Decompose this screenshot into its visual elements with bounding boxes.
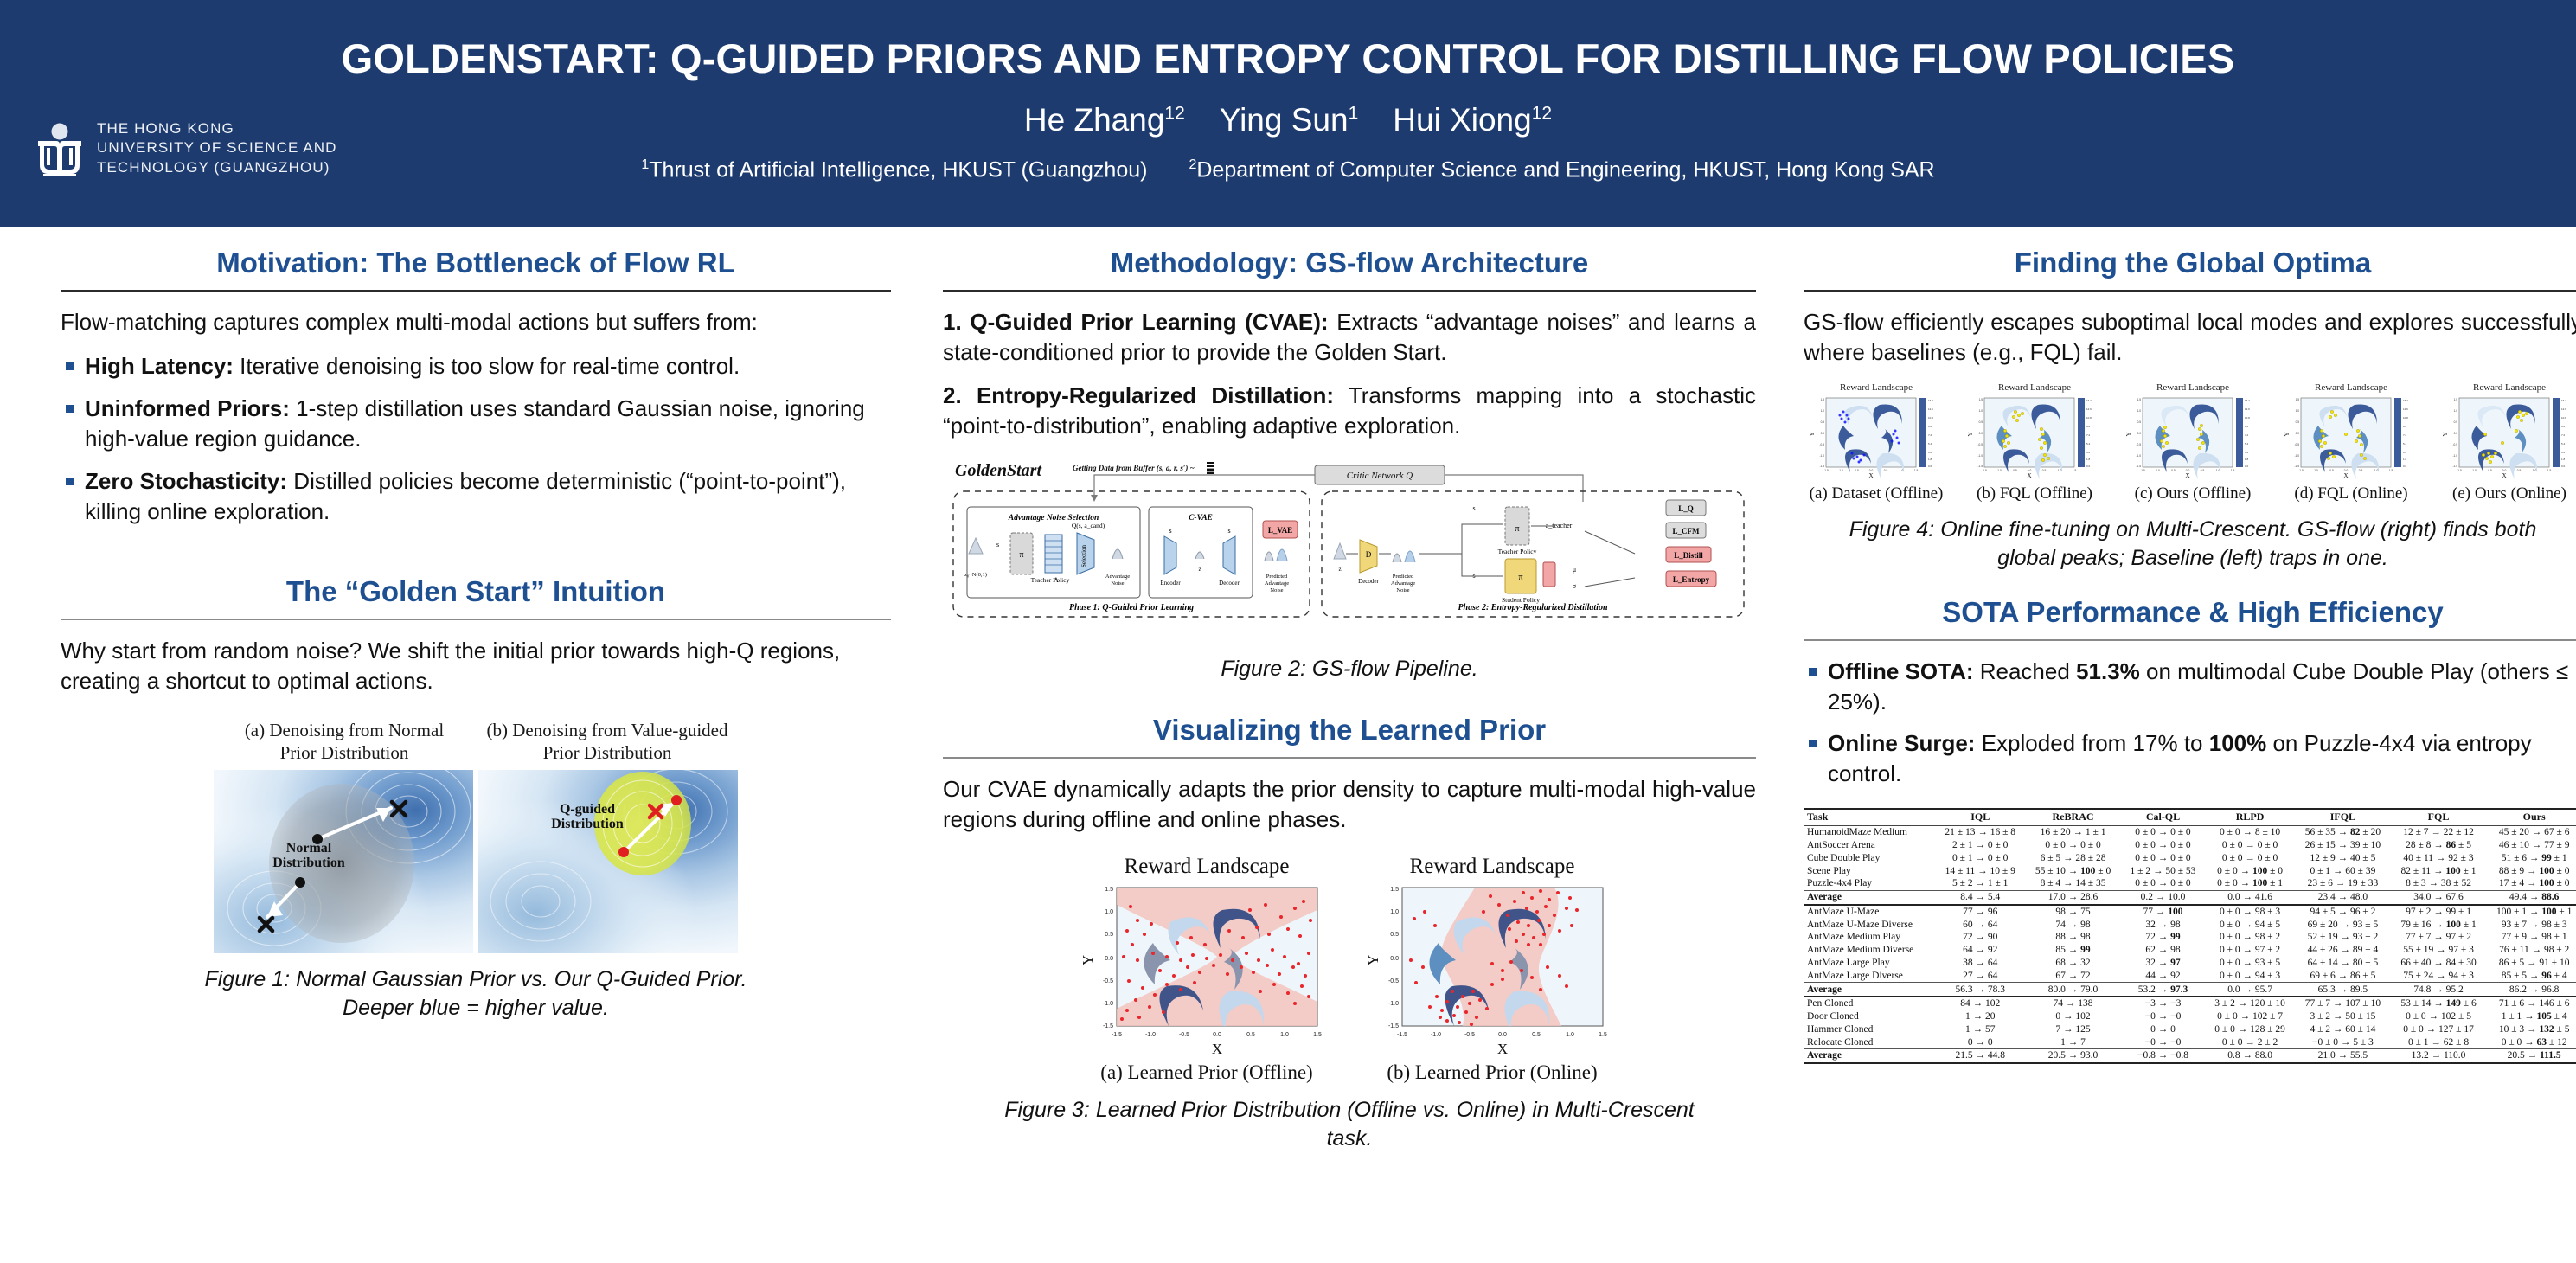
svg-text:0.5: 0.5 xyxy=(2517,469,2522,472)
table-cell: 100 ± 1 → 100 ± 1 xyxy=(2486,905,2576,919)
table-row: Pen Cloned84 → 10274 → 138−3 → −33 ± 2 →… xyxy=(1804,997,2576,1010)
table-cell: 0 ± 0 → 102 ± 5 xyxy=(2391,1010,2487,1023)
global-optima-text: GS-flow efficiently escapes suboptimal l… xyxy=(1804,307,2576,369)
phase-1-title: Phase 1: Q-Guided Prior Learning xyxy=(1069,603,1194,612)
table-cell: 13.2 → 110.0 xyxy=(2391,1049,2487,1063)
table-cell: 0 ± 0 → 0 ± 0 xyxy=(2025,839,2121,852)
section-divider xyxy=(943,290,1756,292)
table-row-average: Average21.5 → 44.820.5 → 93.0−0.8 → −0.8… xyxy=(1804,1049,2576,1063)
table-cell: −0.8 → −0.8 xyxy=(2121,1049,2205,1063)
svg-text:-1.5: -1.5 xyxy=(1823,469,1829,472)
figure-4-subcaption-a: (a) Dataset (Offline) xyxy=(1804,484,1949,503)
table-cell: 76 ± 11 → 98 ± 2 xyxy=(2486,944,2576,957)
svg-text:1.5: 1.5 xyxy=(2454,398,2458,401)
table-cell: 86.2 → 96.8 xyxy=(2486,983,2576,997)
results-table: TaskIQLReBRACCal-QLRLPDIFQLFQLOurs Human… xyxy=(1804,808,2576,1064)
svg-text:-0.5: -0.5 xyxy=(2295,443,2300,446)
svg-text:9.0: 9.0 xyxy=(2245,425,2249,428)
table-row-average: Average8.4 → 5.417.0 → 28.60.2 → 10.00.0… xyxy=(1804,890,2576,904)
table-cell: 32 → 98 xyxy=(2121,918,2205,931)
svg-text:X: X xyxy=(2185,472,2189,479)
method-num-1: 1. xyxy=(943,309,962,335)
svg-text:-0.5: -0.5 xyxy=(1854,469,1859,472)
figure-4-plot-title-b: Reward Landscape xyxy=(1962,382,2107,393)
svg-text:0.0: 0.0 xyxy=(2086,465,2091,468)
figure-4-subcaption-e: (e) Ours (Online) xyxy=(2437,484,2576,503)
svg-text:Predicted: Predicted xyxy=(1266,574,1288,580)
table-cell: 85 → 99 xyxy=(2025,944,2121,957)
table-cell-task: Door Cloned xyxy=(1804,1010,1935,1023)
svg-text:Predicted: Predicted xyxy=(1393,574,1414,580)
svg-text:0.5: 0.5 xyxy=(2454,420,2458,424)
table-cell: 27 → 64 xyxy=(1935,969,2025,982)
affiliation-list: 1Thrust of Artificial Intelligence, HKUS… xyxy=(0,157,2576,183)
table-cell: 1 ± 2 → 50 ± 53 xyxy=(2121,864,2205,877)
table-cell: 55 ± 19 → 97 ± 3 xyxy=(2391,944,2487,957)
figure-4-panel-c: Reward Landscape xyxy=(2120,382,2265,503)
svg-text:z₀~N(0,1): z₀~N(0,1) xyxy=(964,572,987,578)
figure-3: Reward Landscape xyxy=(943,855,1756,1154)
figure-4-plot-title-a: Reward Landscape xyxy=(1804,382,1949,393)
svg-text:1.5: 1.5 xyxy=(1979,398,1983,401)
table-cell: 79 ± 16 → 100 ± 1 xyxy=(2391,918,2487,931)
table-cell-task: Scene Play xyxy=(1804,864,1935,877)
svg-text:1.0: 1.0 xyxy=(1821,409,1825,413)
svg-text:0.0: 0.0 xyxy=(2454,432,2458,435)
svg-text:-0.5: -0.5 xyxy=(1978,443,1983,446)
motivation-intro: Flow-matching captures complex multi-mod… xyxy=(61,307,891,337)
table-cell: 46 ± 10 → 77 ± 9 xyxy=(2486,839,2576,852)
svg-text:5.4: 5.4 xyxy=(1928,442,1932,446)
table-cell: 44 → 92 xyxy=(2121,969,2205,982)
table-cell: 94 ± 5 → 96 ± 2 xyxy=(2295,905,2391,919)
hkust-crest-icon xyxy=(35,120,85,177)
bullet-pre: Reached xyxy=(1974,658,2077,684)
svg-text:7.2: 7.2 xyxy=(2561,433,2566,437)
svg-text:3.6: 3.6 xyxy=(2403,451,2407,454)
table-cell: 6 ± 5 → 28 ± 28 xyxy=(2025,851,2121,864)
svg-text:Distribution: Distribution xyxy=(272,856,345,870)
author-3-affil-sup: 12 xyxy=(1532,104,1552,124)
svg-text:Advantage: Advantage xyxy=(1265,580,1289,587)
table-cell: 40 ± 11 → 92 ± 3 xyxy=(2391,851,2487,864)
figure-4-panel-b: Reward Landscape xyxy=(1962,382,2107,503)
svg-text:1.0: 1.0 xyxy=(1280,1032,1289,1038)
section-methodology: Methodology: GS-flow Architecture 1. Q-G… xyxy=(943,247,1756,684)
table-cell: 72 → 99 xyxy=(2121,931,2205,944)
x-axis-label: X xyxy=(1497,1041,1508,1057)
svg-text:Normal: Normal xyxy=(286,841,332,856)
svg-text:10.8: 10.8 xyxy=(2245,416,2250,420)
table-cell: 93 ± 7 → 98 ± 3 xyxy=(2486,918,2576,931)
table-cell: 77 → 100 xyxy=(2121,905,2205,919)
learned-prior-offline-plot: 1.51.00.5 0.0-0.5-1.0-1.5 -1.5-1.0-0.5 0… xyxy=(1077,881,1336,1058)
table-cell: 97 ± 2 → 99 ± 1 xyxy=(2391,905,2487,919)
svg-text:Selection: Selection xyxy=(1080,545,1087,568)
figure-1-caption-line-2: Deeper blue = higher value. xyxy=(61,994,891,1023)
table-cell: 32 → 97 xyxy=(2121,957,2205,970)
table-column-header: ReBRAC xyxy=(2025,809,2121,825)
table-cell: 77 ± 9 → 98 ± 1 xyxy=(2486,931,2576,944)
svg-text:16.4: 16.4 xyxy=(2245,399,2250,402)
dataset-offline-plot: 16.412.610.8 9.07.25.4 3.61.80.0 -1.5-1.… xyxy=(1804,393,1949,479)
critic-network-label: Critic Network Q xyxy=(1347,471,1413,481)
affil-1-text: Thrust of Artificial Intelligence, HKUST… xyxy=(649,157,1147,182)
figure-3-panel-b: Reward Landscape xyxy=(1362,855,1622,1084)
table-cell: 0 ± 0 → 0 ± 0 xyxy=(2205,839,2295,852)
table-cell: 67 → 72 xyxy=(2025,969,2121,982)
table-cell: −0 ± 0 → 5 ± 3 xyxy=(2295,1035,2391,1048)
table-cell: 23.4 → 48.0 xyxy=(2295,890,2391,904)
table-cell: 69 ± 6 → 86 ± 5 xyxy=(2295,969,2391,982)
table-cell: 65.3 → 89.5 xyxy=(2295,983,2391,997)
svg-text:0.5: 0.5 xyxy=(2042,469,2047,472)
figure-1-panel-a-header: (a) Denoising from NormalPrior Distribut… xyxy=(215,719,474,765)
table-cell: 34.0 → 67.6 xyxy=(2391,890,2487,904)
svg-text:Y: Y xyxy=(1809,432,1816,436)
svg-text:Y: Y xyxy=(2284,432,2291,436)
svg-text:X: X xyxy=(1868,472,1873,479)
svg-text:0.0: 0.0 xyxy=(1498,1032,1507,1038)
table-cell: 0 ± 0 → 63 ± 12 xyxy=(2486,1035,2576,1048)
svg-text:0.5: 0.5 xyxy=(1821,420,1825,424)
svg-text:-1.0: -1.0 xyxy=(2453,454,2458,458)
figure-4-subcaption-d: (d) FQL (Online) xyxy=(2278,484,2424,503)
loss-entropy: L_Entropy xyxy=(1673,575,1710,584)
section-divider xyxy=(1804,290,2576,292)
table-row: AntMaze Medium Diverse64 → 9285 → 9962 →… xyxy=(1804,944,2576,957)
figure-4-caption-line-2: global peaks; Baseline (left) traps in o… xyxy=(1804,544,2576,574)
section-divider xyxy=(61,619,891,620)
bullet-strong: 51.3% xyxy=(2076,658,2140,684)
svg-text:Distribution: Distribution xyxy=(551,817,624,831)
svg-text:3.6: 3.6 xyxy=(2245,451,2249,454)
list-item: Offline SOTA: Reached 51.3% on multimoda… xyxy=(1804,657,2576,717)
svg-text:3.6: 3.6 xyxy=(1928,451,1932,454)
figure-3-subcaption-b: (b) Learned Prior (Online) xyxy=(1362,1061,1622,1084)
list-item: Zero Stochasticity: Distilled policies b… xyxy=(61,466,891,527)
table-cell: 10 ± 3 → 132 ± 5 xyxy=(2486,1023,2576,1036)
svg-text:Teacher Policy: Teacher Policy xyxy=(1498,548,1537,555)
table-cell: 0 ± 1 → 60 ± 39 xyxy=(2295,864,2391,877)
figure-4-panel-e: Reward Landscape xyxy=(2437,382,2576,503)
svg-text:1.8: 1.8 xyxy=(2086,458,2091,461)
table-row: AntMaze U-Maze77 → 9698 → 7577 → 1000 ± … xyxy=(1804,905,2576,919)
table-cell: 74 → 138 xyxy=(2025,997,2121,1010)
figure-3-caption-line-2: task. xyxy=(943,1125,1756,1154)
svg-text:s: s xyxy=(996,541,999,548)
section-divider xyxy=(61,290,891,292)
svg-text:1.5: 1.5 xyxy=(2073,469,2077,472)
fql-online-plot: 16.412.610.8 9.07.25.4 3.61.80.0 -1.5-1.… xyxy=(2278,393,2424,479)
loss-cfm: L_CFM xyxy=(1673,527,1701,535)
table-cell-task: Puzzle-4x4 Play xyxy=(1804,877,1935,890)
table-cell: 51 ± 6 → 99 ± 1 xyxy=(2486,851,2576,864)
svg-text:1.5: 1.5 xyxy=(1821,398,1825,401)
svg-text:1.0: 1.0 xyxy=(2296,409,2300,413)
table-cell: 49.4 → 88.6 xyxy=(2486,890,2576,904)
svg-text:s: s xyxy=(1227,527,1230,535)
svg-text:-1.5: -1.5 xyxy=(1103,1023,1113,1029)
poster-root: GOLDENSTART: Q-GUIDED PRIORS AND ENTROPY… xyxy=(0,0,2576,1263)
table-cell: 8 ± 3 → 38 ± 52 xyxy=(2391,877,2487,890)
table-cell: 0 ± 0 → 100 ± 0 xyxy=(2205,864,2295,877)
svg-text:-1.0: -1.0 xyxy=(1820,454,1825,458)
table-cell: 21.0 → 55.5 xyxy=(2295,1049,2391,1063)
table-cell: 4 ± 2 → 60 ± 14 xyxy=(2295,1023,2391,1036)
svg-text:0.0: 0.0 xyxy=(1105,956,1113,962)
table-cell: 98 → 75 xyxy=(2025,905,2121,919)
svg-text:-1.5: -1.5 xyxy=(1978,465,1983,468)
table-row: Hammer Cloned1 → 577 → 1250 → 00 ± 0 → 1… xyxy=(1804,1023,2576,1036)
svg-text:-0.5: -0.5 xyxy=(1179,1032,1189,1038)
table-row: HumanoidMaze Medium21 ± 13 → 16 ± 816 ± … xyxy=(1804,825,2576,838)
svg-text:9.0: 9.0 xyxy=(2561,425,2566,428)
table-column-header: IFQL xyxy=(2295,809,2391,825)
section-title-methodology: Methodology: GS-flow Architecture xyxy=(943,247,1756,279)
svg-text:0.0: 0.0 xyxy=(1390,956,1399,962)
svg-text:3.6: 3.6 xyxy=(2561,451,2566,454)
bullet-label: Offline SOTA: xyxy=(1828,658,1974,684)
table-body: HumanoidMaze Medium21 ± 13 → 16 ± 816 ± … xyxy=(1804,825,2576,1063)
table-cell: 0 → 0 xyxy=(1935,1035,2025,1048)
svg-text:Encoder: Encoder xyxy=(1160,580,1181,587)
table-cell: 0 ± 1 → 62 ± 8 xyxy=(2391,1035,2487,1048)
method-label-1: Q-Guided Prior Learning (CVAE): xyxy=(970,309,1328,335)
learned-prior-online-plot: 1.51.00.5 0.0-0.5-1.0-1.5 -1.5-1.0-0.5 0… xyxy=(1362,881,1622,1058)
table-cell: 0 ± 0 → 98 ± 2 xyxy=(2205,931,2295,944)
svg-text:5.4: 5.4 xyxy=(2561,442,2566,446)
svg-text:1.0: 1.0 xyxy=(1390,909,1399,915)
svg-text:Noise: Noise xyxy=(1396,587,1409,593)
table-cell-task: HumanoidMaze Medium xyxy=(1804,825,1935,838)
svg-text:-1.0: -1.0 xyxy=(2295,454,2300,458)
table-cell: 0 ± 0 → 0 ± 0 xyxy=(2205,851,2295,864)
svg-text:0.5: 0.5 xyxy=(1105,932,1113,938)
table-cell: 82 ± 11 → 100 ± 1 xyxy=(2391,864,2487,877)
logo-line-3: TECHNOLOGY (GUANGZHOU) xyxy=(97,158,337,177)
methodology-item-2: 2. Entropy-Regularized Distillation: Tra… xyxy=(943,381,1756,442)
svg-text:-1.5: -1.5 xyxy=(2457,469,2462,472)
table-cell-task: AntSoccer Arena xyxy=(1804,839,1935,852)
table-cell: −0 → −0 xyxy=(2121,1035,2205,1048)
table-cell: 0.2 → 10.0 xyxy=(2121,890,2205,904)
column-left: Motivation: The Bottleneck of Flow RL Fl… xyxy=(61,247,891,1023)
figure-2-pipeline-diagram: GoldenStart Getting Data from Buffer (s,… xyxy=(943,457,1756,643)
section-title-intuition: The “Golden Start” Intuition xyxy=(61,575,891,608)
svg-text:1.0: 1.0 xyxy=(2216,469,2220,472)
table-row: Scene Play14 ± 11 → 10 ± 955 ± 10 → 100 … xyxy=(1804,864,2576,877)
table-cell: 0 ± 0 → 8 ± 10 xyxy=(2205,825,2295,838)
bullet-label: Online Surge: xyxy=(1828,730,1975,756)
svg-text:1.0: 1.0 xyxy=(1105,909,1113,915)
table-cell: 56 ± 35 → 82 ± 20 xyxy=(2295,825,2391,838)
svg-text:0.0: 0.0 xyxy=(1821,432,1825,435)
svg-text:Decoder: Decoder xyxy=(1358,578,1379,585)
table-cell: 5 ± 2 → 1 ± 1 xyxy=(1935,877,2025,890)
figure-4-plot-title-e: Reward Landscape xyxy=(2437,382,2576,393)
svg-text:0.5: 0.5 xyxy=(2359,469,2363,472)
svg-text:0.0: 0.0 xyxy=(2561,465,2566,468)
list-item: High Latency: Iterative denoising is too… xyxy=(61,351,891,381)
figure-4-caption: Figure 4: Online fine-tuning on Multi-Cr… xyxy=(1804,516,2576,574)
phase-2-title: Phase 2: Entropy-Regularized Distillatio… xyxy=(1458,603,1608,612)
table-column-header: IQL xyxy=(1935,809,2025,825)
table-cell: 8 ± 4 → 14 ± 35 xyxy=(2025,877,2121,890)
bullet-pre: Exploded from 17% to xyxy=(1975,730,2208,756)
svg-text:-0.5: -0.5 xyxy=(2487,469,2492,472)
table-cell: 75 ± 24 → 94 ± 3 xyxy=(2391,969,2487,982)
svg-text:Q-guided: Q-guided xyxy=(560,802,615,817)
author-1-affil-sup: 12 xyxy=(1164,104,1184,124)
table-cell: 84 → 102 xyxy=(1935,997,2025,1010)
table-cell: 55 ± 10 → 100 ± 0 xyxy=(2025,864,2121,877)
svg-text:1.5: 1.5 xyxy=(1914,469,1919,472)
svg-text:1.5: 1.5 xyxy=(2296,398,2300,401)
bullet-label: Zero Stochasticity: xyxy=(85,468,287,494)
university-name: THE HONG KONG UNIVERSITY OF SCIENCE AND … xyxy=(97,119,337,177)
svg-text:1.5: 1.5 xyxy=(1105,887,1113,893)
logo-line-1: THE HONG KONG xyxy=(97,119,337,138)
section-divider xyxy=(1804,639,2576,641)
table-column-header: Ours xyxy=(2486,809,2576,825)
section-title-visualizing: Visualizing the Learned Prior xyxy=(943,714,1756,747)
university-logo: THE HONG KONG UNIVERSITY OF SCIENCE AND … xyxy=(35,119,337,177)
svg-text:10.8: 10.8 xyxy=(2561,416,2566,420)
table-cell: 0 ± 1 → 0 ± 0 xyxy=(1935,851,2025,864)
table-row: Door Cloned1 → 200 → 102−0 → −00 ± 0 → 1… xyxy=(1804,1010,2576,1023)
figure-3-plot-title-a: Reward Landscape xyxy=(1077,855,1336,879)
sota-bullet-list: Offline SOTA: Reached 51.3% on multimoda… xyxy=(1804,657,2576,789)
svg-text:16.4: 16.4 xyxy=(1928,399,1933,402)
table-cell: 0.0 → 95.7 xyxy=(2205,983,2295,997)
svg-text:-0.5: -0.5 xyxy=(1388,978,1399,984)
table-cell: 3 ± 2 → 50 ± 15 xyxy=(2295,1010,2391,1023)
author-list: He Zhang12Ying Sun1Hui Xiong12 xyxy=(0,102,2576,138)
svg-text:-0.5: -0.5 xyxy=(2329,469,2334,472)
loss-distill: L_Distill xyxy=(1674,551,1703,560)
svg-text:-1.5: -1.5 xyxy=(2453,465,2458,468)
svg-text:π: π xyxy=(1019,550,1023,560)
table-cell: 66 ± 40 → 84 ± 30 xyxy=(2391,957,2487,970)
figure-4-plot-title-c: Reward Landscape xyxy=(2120,382,2265,393)
svg-text:9.0: 9.0 xyxy=(2086,425,2091,428)
page-title: GOLDENSTART: Q-GUIDED PRIORS AND ENTROPY… xyxy=(0,35,2576,82)
svg-text:0.5: 0.5 xyxy=(2201,469,2205,472)
table-cell: 20.5 → 93.0 xyxy=(2025,1049,2121,1063)
table-row: AntMaze Medium Play72 → 9088 → 9872 → 99… xyxy=(1804,931,2576,944)
svg-text:3.6: 3.6 xyxy=(2086,451,2091,454)
svg-text:-1.5: -1.5 xyxy=(1397,1032,1407,1038)
svg-text:Teacher Policy: Teacher Policy xyxy=(1031,576,1070,584)
svg-text:0.5: 0.5 xyxy=(1979,420,1983,424)
affil-2-text: Department of Computer Science and Engin… xyxy=(1196,157,1934,182)
table-cell: 88 ± 9 → 100 ± 0 xyxy=(2486,864,2576,877)
column-right: Finding the Global Optima GS-flow effici… xyxy=(1804,247,2576,1064)
table-cell: 0 ± 0 → 98 ± 3 xyxy=(2205,905,2295,919)
section-title-global-optima: Finding the Global Optima xyxy=(1804,247,2576,279)
svg-text:Noise: Noise xyxy=(1111,580,1124,587)
svg-text:-1.0: -1.0 xyxy=(1103,1001,1113,1007)
figure-4-subcaption-b: (b) FQL (Offline) xyxy=(1962,484,2107,503)
table-cell: 68 → 32 xyxy=(2025,957,2121,970)
bullet-strong: 100% xyxy=(2209,730,2267,756)
y-axis-label: Y xyxy=(1365,955,1381,965)
author-2: Ying Sun xyxy=(1220,102,1349,138)
table-cell: 17 ± 4 → 100 ± 0 xyxy=(2486,877,2576,890)
table-cell: 0 ± 0 → 94 ± 3 xyxy=(2205,969,2295,982)
svg-text:μ: μ xyxy=(1573,566,1576,574)
svg-text:1.5: 1.5 xyxy=(2547,469,2552,472)
svg-text:9.0: 9.0 xyxy=(2403,425,2407,428)
svg-text:10.8: 10.8 xyxy=(2086,416,2092,420)
table-cell: 53.2 → 97.3 xyxy=(2121,983,2205,997)
svg-text:12.6: 12.6 xyxy=(2086,407,2092,411)
svg-text:16.4: 16.4 xyxy=(2403,399,2408,402)
svg-text:1.0: 1.0 xyxy=(2374,469,2379,472)
svg-text:10.8: 10.8 xyxy=(2403,416,2408,420)
table-cell-task: AntMaze Medium Diverse xyxy=(1804,944,1935,957)
svg-text:5.4: 5.4 xyxy=(2403,442,2407,446)
table-cell: 62 → 98 xyxy=(2121,944,2205,957)
logo-line-2: UNIVERSITY OF SCIENCE AND xyxy=(97,138,337,157)
section-visualizing: Visualizing the Learned Prior Our CVAE d… xyxy=(943,714,1756,1154)
svg-text:z: z xyxy=(1198,566,1201,573)
table-cell: 3 ± 2 → 120 ± 10 xyxy=(2205,997,2295,1010)
ours-online-plot: 16.412.610.8 9.07.25.4 3.61.80.0 -1.5-1.… xyxy=(2437,393,2576,479)
figure-1-panel-b-header: (b) Denoising from Value-guidedPrior Dis… xyxy=(477,719,737,765)
svg-text:-0.5: -0.5 xyxy=(2012,469,2017,472)
table-cell: 74.8 → 95.2 xyxy=(2391,983,2487,997)
table-cell: 0 ± 0 → 0 ± 0 xyxy=(2121,825,2205,838)
table-cell: 64 ± 14 → 80 ± 5 xyxy=(2295,957,2391,970)
svg-text:X: X xyxy=(2027,472,2031,479)
svg-text:-0.5: -0.5 xyxy=(1820,443,1825,446)
table-cell-task: Hammer Cloned xyxy=(1804,1023,1935,1036)
table-header: TaskIQLReBRACCal-QLRLPDIFQLFQLOurs xyxy=(1804,809,2576,825)
table-cell: −0 → −0 xyxy=(2121,1010,2205,1023)
table-cell: 72 → 90 xyxy=(1935,931,2025,944)
table-cell-task: Pen Cloned xyxy=(1804,997,1935,1010)
svg-text:C-VAE: C-VAE xyxy=(1189,514,1213,523)
svg-text:1.0: 1.0 xyxy=(1979,409,1983,413)
svg-text:X: X xyxy=(2502,472,2506,479)
svg-text:-0.5: -0.5 xyxy=(2137,443,2142,446)
table-cell: 0 ± 0 → 0 ± 0 xyxy=(2121,851,2205,864)
svg-text:s: s xyxy=(1472,504,1475,512)
svg-text:Y: Y xyxy=(2125,432,2132,436)
table-cell: 60 → 64 xyxy=(1935,918,2025,931)
table-cell: 1 ± 1 → 105 ± 4 xyxy=(2486,1010,2576,1023)
svg-text:12.6: 12.6 xyxy=(2561,407,2566,411)
table-cell: 0 ± 0 → 0 ± 0 xyxy=(2121,877,2205,890)
table-cell-task: AntMaze U-Maze Diverse xyxy=(1804,918,1935,931)
loss-q: L_Q xyxy=(1678,504,1694,513)
svg-text:-1.0: -1.0 xyxy=(1996,469,2002,472)
table-row-average: Average56.3 → 78.380.0 → 79.053.2 → 97.3… xyxy=(1804,983,2576,997)
table-cell: 0 ± 0 → 127 ± 17 xyxy=(2391,1023,2487,1036)
svg-text:0.5: 0.5 xyxy=(2137,420,2142,424)
table-row: Cube Double Play0 ± 1 → 0 ± 06 ± 5 → 28 … xyxy=(1804,851,2576,864)
figure-1-panel-b: Q-guided Distribution xyxy=(478,770,738,953)
svg-text:16.4: 16.4 xyxy=(2086,399,2092,402)
svg-text:z: z xyxy=(1338,566,1341,573)
table-cell: 2 ± 1 → 0 ± 0 xyxy=(1935,839,2025,852)
section-motivation: Motivation: The Bottleneck of Flow RL Fl… xyxy=(61,247,891,527)
svg-text:-1.5: -1.5 xyxy=(2298,469,2304,472)
section-title-sota: SOTA Performance & High Efficiency xyxy=(1804,596,2576,629)
svg-text:-1.5: -1.5 xyxy=(2140,469,2145,472)
